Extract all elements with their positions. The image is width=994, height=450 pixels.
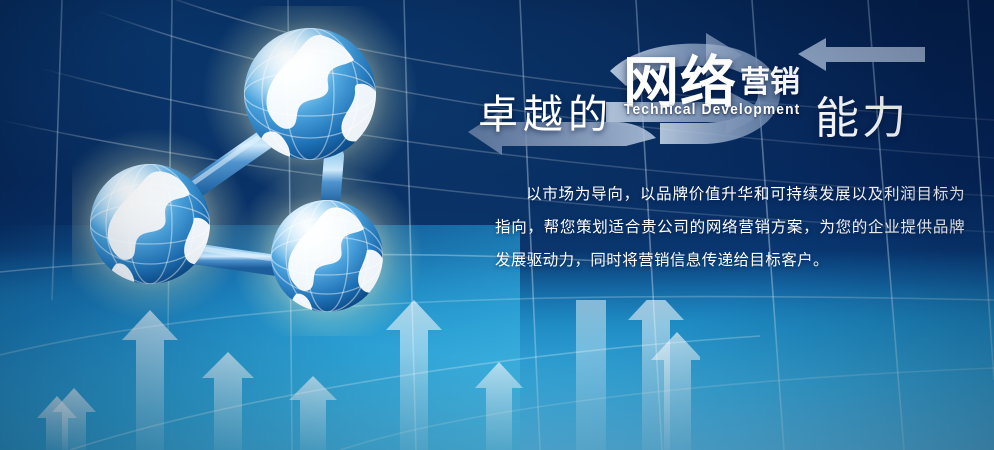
up-arrow-icon-set <box>37 300 700 450</box>
headline-english: Technical Development <box>624 101 800 118</box>
headline-main-sub: 营销 <box>740 57 800 101</box>
globe-network-graphic <box>72 6 422 336</box>
straight-arrow-left-top-icon <box>798 38 925 71</box>
headline-lead: 卓越的 <box>478 82 613 140</box>
headline-block: 卓越的 网络 营销 Technical Development 能力 <box>420 24 994 164</box>
headline-tail: 能力 <box>815 82 909 146</box>
body-paragraph: 以市场为导向，以品牌价值升华和可持续发展以及利润目标为指向，帮您策划适合贵公司的… <box>495 178 965 277</box>
marketing-banner: 卓越的 网络 营销 Technical Development 能力 以市场为导… <box>0 0 994 450</box>
upward-arrows-graphic <box>0 300 700 450</box>
body-copy: 以市场为导向，以品牌价值升华和可持续发展以及利润目标为指向，帮您策划适合贵公司的… <box>495 178 965 277</box>
